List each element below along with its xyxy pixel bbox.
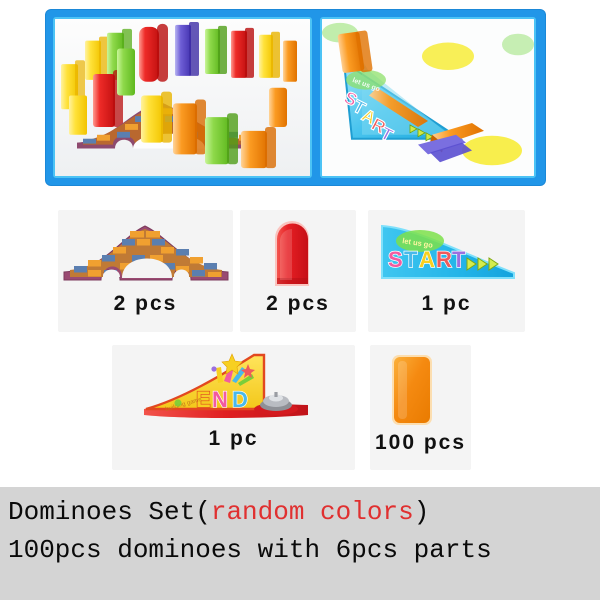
- svg-text:N: N: [212, 387, 228, 412]
- start-ramp-art: let us go S T A R T: [368, 210, 525, 288]
- bridge-scene-illustration: [55, 19, 310, 176]
- photo-panel-start-ramp-scene[interactable]: let us go S T A R T: [320, 17, 536, 178]
- svg-text:T: T: [452, 247, 466, 272]
- caption-line-1-suffix: ): [414, 497, 430, 527]
- part-quantity-domino-tile: 100 pcs: [370, 431, 471, 455]
- svg-text:R: R: [436, 247, 452, 272]
- part-card-arch-door-domino[interactable]: 2 pcs: [240, 210, 356, 332]
- arch-bridge-art: [58, 210, 233, 288]
- caption-band: Dominoes Set(random colors) 100pcs domin…: [0, 487, 600, 600]
- orange-domino-tile-icon: [370, 345, 471, 431]
- red-arch-domino-icon: [240, 210, 356, 288]
- part-card-domino-tile[interactable]: 100 pcs: [370, 345, 471, 470]
- brick-arch-bridge-icon: [58, 210, 233, 288]
- end-ramp-icon: E N D building game: [112, 345, 355, 425]
- start-ramp-scene-image: let us go S T A R T: [322, 19, 534, 176]
- part-card-end-ramp[interactable]: E N D building game 1 pc: [112, 345, 355, 470]
- orange-domino-tile-art: [370, 345, 471, 431]
- caption-line-1: Dominoes Set(random colors): [8, 497, 429, 527]
- part-quantity-start-ramp: 1 pc: [368, 292, 525, 316]
- svg-text:S: S: [388, 247, 403, 272]
- svg-text:A: A: [419, 247, 435, 272]
- caption-line-2: 100pcs dominoes with 6pcs parts: [8, 535, 492, 565]
- part-quantity-end-ramp: 1 pc: [112, 427, 355, 451]
- caption-line-1-accent: random colors: [211, 497, 414, 527]
- svg-text:T: T: [404, 247, 418, 272]
- end-ramp-art: E N D building game: [112, 345, 355, 425]
- red-arch-domino-art: [240, 210, 356, 288]
- start-ramp-icon: let us go S T A R T: [368, 210, 525, 288]
- start-ramp-illustration: let us go S T A R T: [322, 19, 534, 176]
- part-quantity-arch-bridge: 2 pcs: [58, 292, 233, 316]
- part-quantity-arch-door-domino: 2 pcs: [240, 292, 356, 316]
- svg-text:D: D: [232, 387, 248, 412]
- caption-line-1-prefix: Dominoes Set(: [8, 497, 211, 527]
- photo-panel-bridge-scene[interactable]: [53, 17, 312, 178]
- part-card-arch-bridge[interactable]: 2 pcs: [58, 210, 233, 332]
- parts-list: 2 pcs 2 pcs: [0, 205, 600, 480]
- product-photo-frame: let us go S T A R T: [46, 10, 545, 185]
- bridge-scene-image: [55, 19, 310, 176]
- part-card-start-ramp[interactable]: let us go S T A R T 1 pc: [368, 210, 525, 332]
